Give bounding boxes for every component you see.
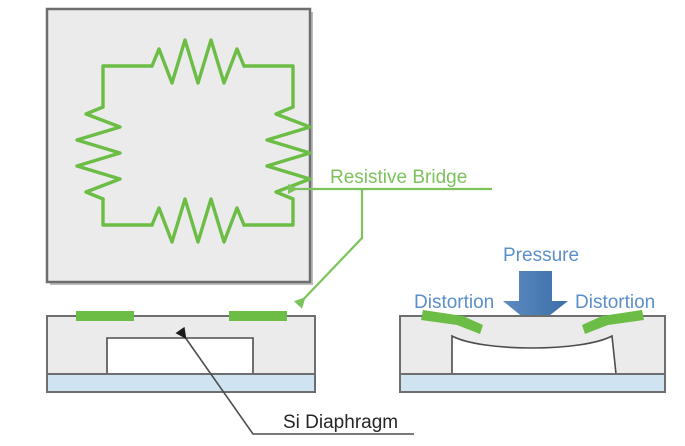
cavity-unloaded [107,338,253,374]
pressure-sensor-diagram: Resistive Bridge Si Diaphragm [0,0,685,446]
si-diaphragm-label: Si Diaphragm [283,412,398,433]
glass-substrate-loaded [400,374,665,392]
glass-substrate-unloaded [47,374,315,392]
piezoresistor-right-unloaded [229,311,287,321]
bridge-panel-group [47,9,313,285]
distortion-label-right: Distortion [575,292,655,313]
distortion-label-left: Distortion [414,292,494,313]
pressure-annotation: Pressure [503,245,579,327]
bridge-panel [47,9,310,282]
resistive-bridge-label: Resistive Bridge [330,167,467,188]
resistive-bridge-annotation: Resistive Bridge [288,167,492,305]
piezoresistor-left-unloaded [76,311,134,321]
cross-section-unloaded [47,311,315,392]
pressure-label: Pressure [503,245,579,266]
diagram-root: Resistive Bridge Si Diaphragm [0,0,685,446]
